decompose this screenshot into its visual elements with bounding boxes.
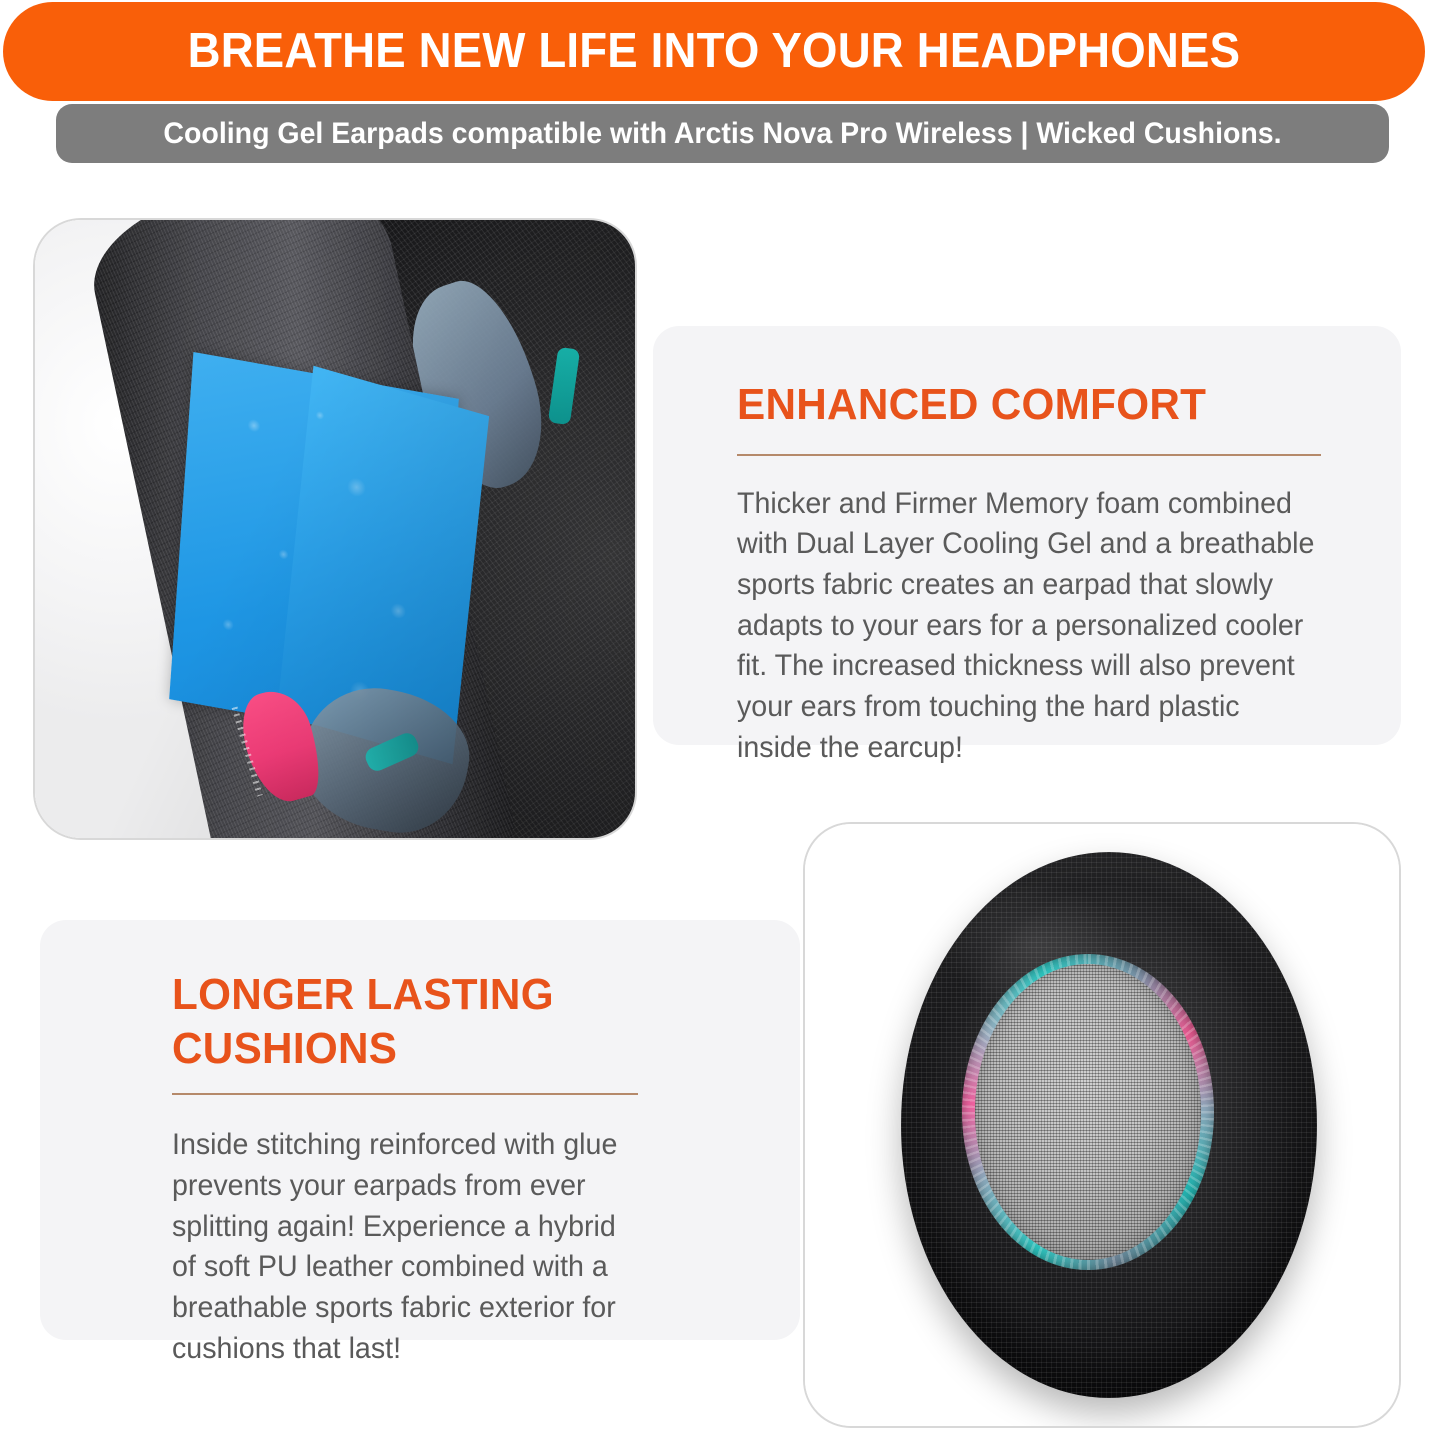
earpad-photo-card [803, 822, 1401, 1428]
gel-bubble-highlights [169, 350, 487, 761]
infographic-canvas: BREATHE NEW LIFE INTO YOUR HEADPHONES Co… [0, 0, 1445, 1443]
feature-divider [172, 1093, 638, 1095]
feature-divider [737, 454, 1321, 456]
headline-text: BREATHE NEW LIFE INTO YOUR HEADPHONES [188, 27, 1241, 76]
feature-body-enhanced-comfort: Thicker and Firmer Memory foam combined … [737, 484, 1319, 769]
feature-panel-enhanced-comfort: ENHANCED COMFORT Thicker and Firmer Memo… [653, 326, 1401, 745]
subheadline-text: Cooling Gel Earpads compatible with Arct… [163, 119, 1281, 149]
feature-panel-longer-lasting-cushions: LONGER LASTING CUSHIONS Inside stitching… [40, 920, 800, 1340]
subheadline-banner: Cooling Gel Earpads compatible with Arct… [56, 104, 1389, 163]
earpad-front-image [805, 824, 1399, 1426]
cooling-gel-macro-image [35, 220, 635, 838]
feature-title-longer-lasting-cushions: LONGER LASTING CUSHIONS [172, 968, 717, 1075]
cooling-gel-photo-card [33, 218, 637, 840]
gray-mesh-center [975, 964, 1201, 1260]
headline-banner: BREATHE NEW LIFE INTO YOUR HEADPHONES [3, 2, 1425, 101]
feature-title-enhanced-comfort: ENHANCED COMFORT [737, 378, 1315, 432]
feature-body-longer-lasting-cushions: Inside stitching reinforced with glue pr… [172, 1125, 638, 1369]
